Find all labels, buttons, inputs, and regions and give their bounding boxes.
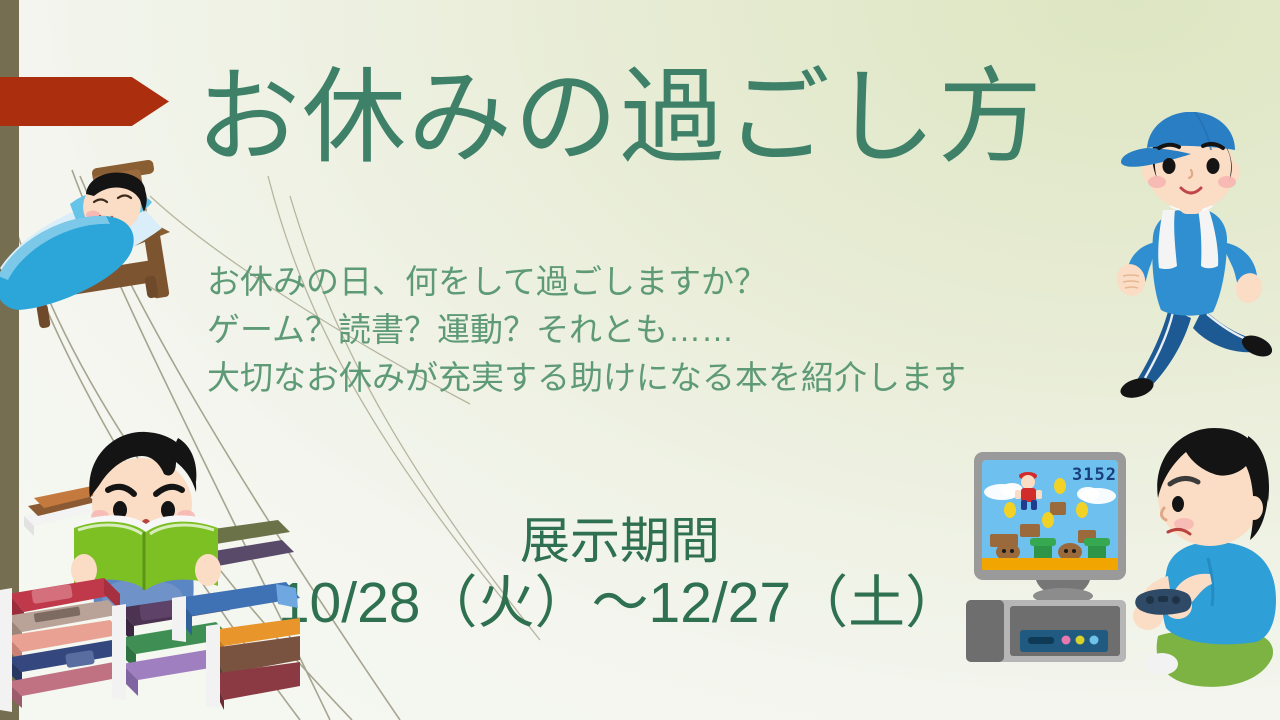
tv-cabinet-icon <box>966 600 1126 662</box>
sleeping-boy-in-bed-illustration <box>0 158 202 354</box>
game-score-text: 3152 <box>1072 465 1117 485</box>
exhibition-period: 展示期間 10/28（火）〜12/27（土） <box>250 512 990 636</box>
running-boy-illustration <box>1095 112 1280 400</box>
runner-arm-front-icon <box>1113 242 1157 300</box>
body-line-2: ゲーム？読書？運動？それとも…… <box>207 306 1087 354</box>
body-text: お休みの日、何をして過ごしますか？ ゲーム？読書？運動？それとも…… 大切なお休… <box>207 258 1087 402</box>
runner-legs-icon <box>1118 308 1275 400</box>
gaming-boy-illustration: 3152 <box>962 424 1280 720</box>
presentation-slide: お休みの過ごし方 お休みの日、何をして過ごしますか？ ゲーム？読書？運動？それと… <box>0 0 1280 720</box>
period-dates: 10/28（火）〜12/27（土） <box>250 570 990 636</box>
book-stack-right-icon <box>172 582 300 710</box>
open-book-icon <box>74 515 218 590</box>
body-line-3: 大切なお休みが充実する助けになる本を紹介します <box>207 354 1087 402</box>
gamer-boy-icon <box>1133 428 1276 687</box>
arrow-banner <box>0 77 169 126</box>
page-title: お休みの過ごし方 <box>196 62 1096 174</box>
runner-head-icon <box>1121 112 1240 210</box>
body-line-1: お休みの日、何をして過ごしますか？ <box>207 258 1087 306</box>
period-label: 展示期間 <box>250 512 990 570</box>
television-icon: 3152 <box>974 452 1126 604</box>
reading-boy-illustration <box>0 412 300 720</box>
runner-arm-back-icon <box>1221 242 1265 306</box>
reader-hand-right-icon <box>195 554 221 586</box>
book-stack-front-left-icon <box>0 578 128 712</box>
